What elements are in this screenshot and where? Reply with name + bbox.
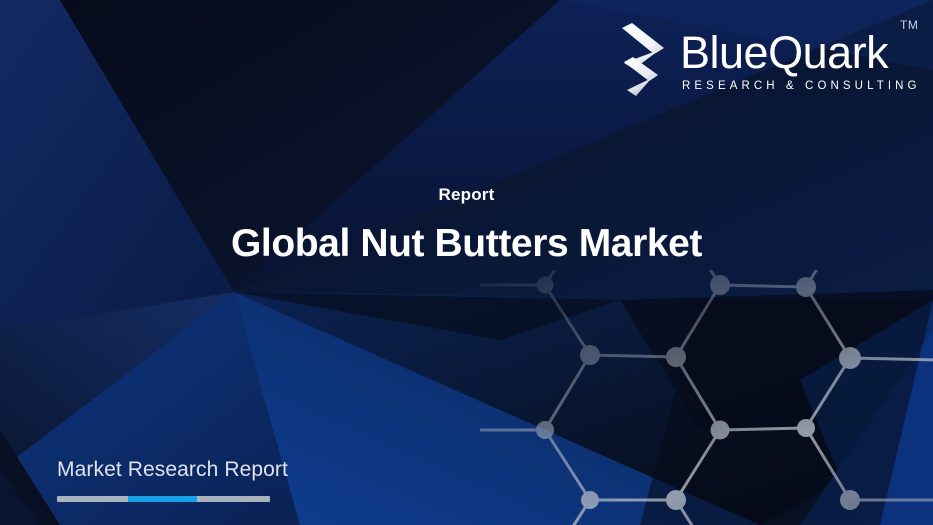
accent-bar: [57, 496, 270, 502]
footer: Market Research Report: [57, 456, 317, 502]
logo-wordmark: BlueQuark RESEARCH & CONSULTING: [680, 28, 920, 94]
page-title: Global Nut Butters Market: [0, 221, 933, 267]
report-cover-page: BlueQuark RESEARCH & CONSULTING TM Repor…: [0, 0, 933, 525]
footer-label: Market Research Report: [57, 456, 317, 483]
accent-bar-segment-right: [197, 496, 270, 502]
brand-name: BlueQuark: [680, 28, 920, 78]
title-area: Report Global Nut Butters Market: [0, 184, 933, 267]
trademark-symbol: TM: [900, 18, 918, 32]
report-kicker: Report: [0, 184, 933, 206]
accent-bar-segment-left: [57, 496, 128, 502]
double-chevron-logo-icon: [618, 22, 674, 102]
brand-tagline: RESEARCH & CONSULTING: [680, 79, 920, 94]
accent-bar-segment-middle: [128, 496, 197, 502]
bluequark-logo: BlueQuark RESEARCH & CONSULTING TM: [618, 14, 918, 104]
